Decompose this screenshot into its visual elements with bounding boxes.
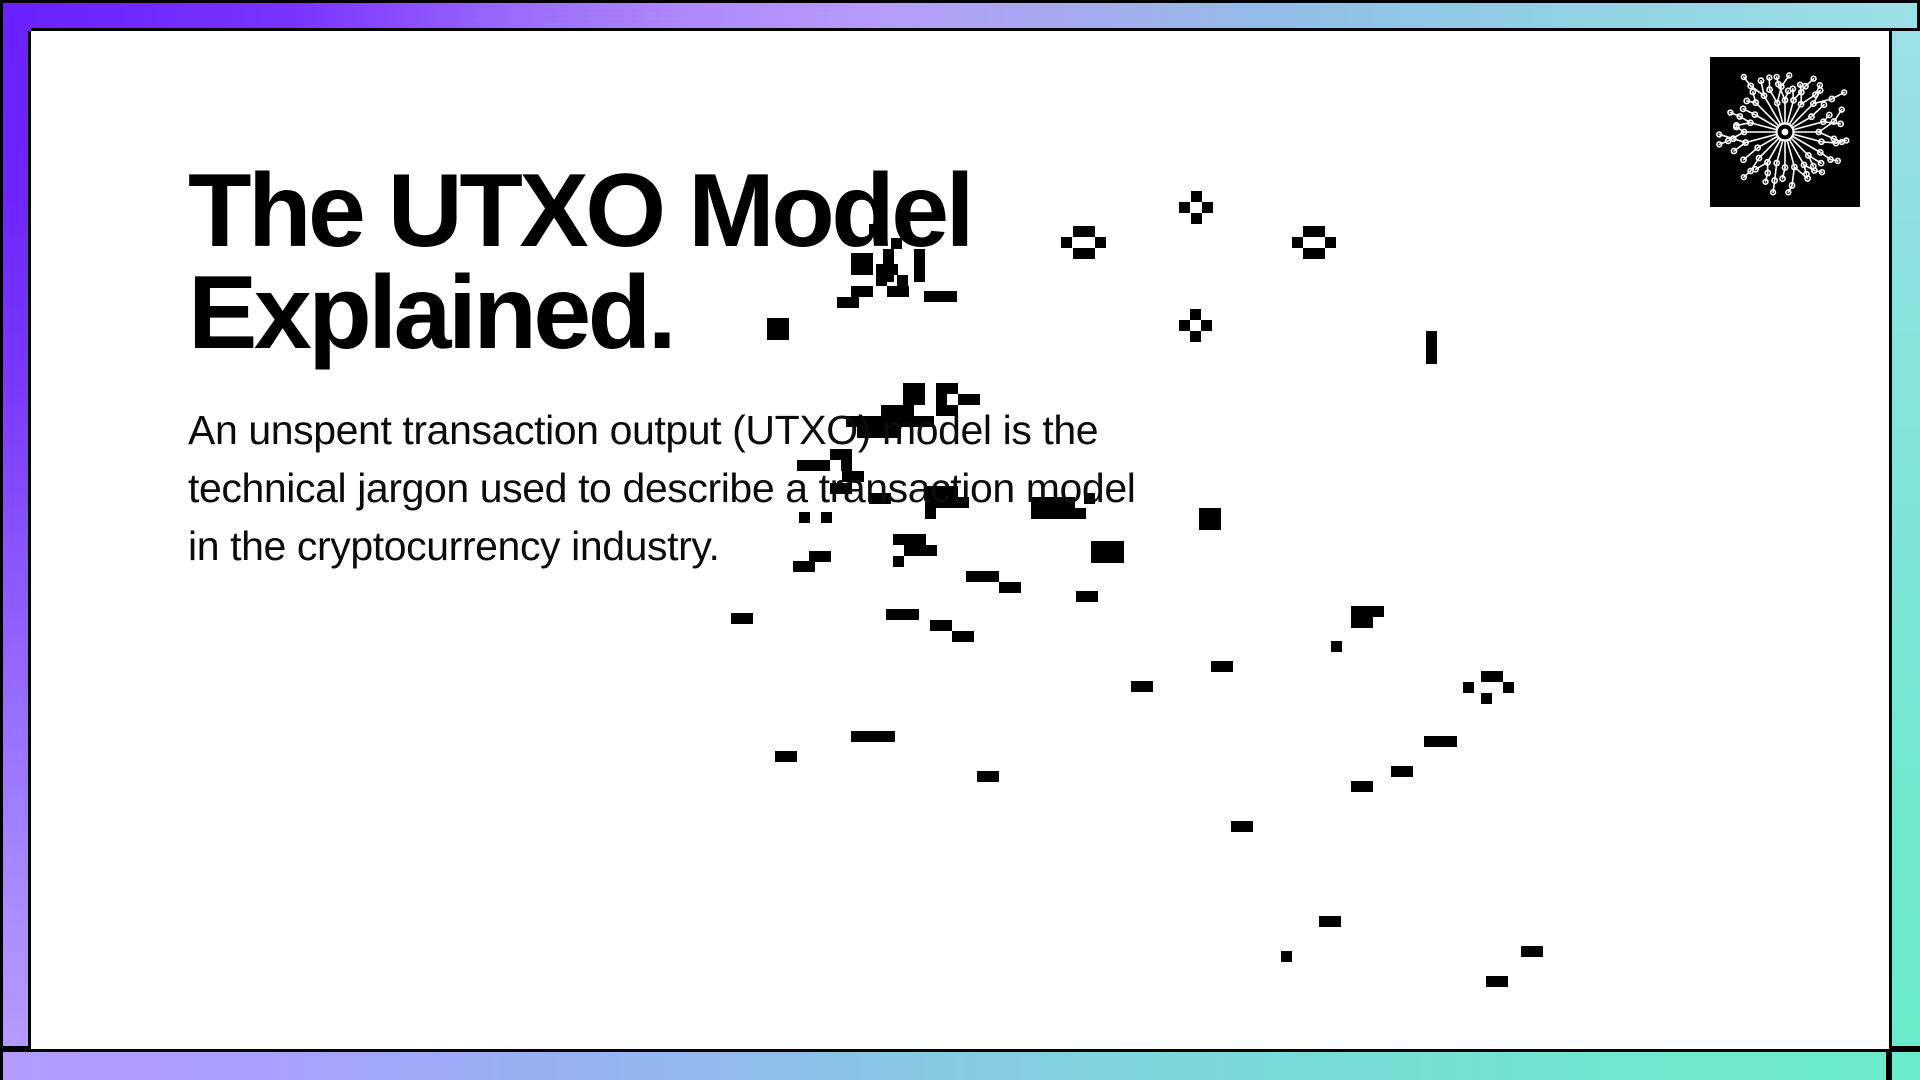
pattern-dot [1402, 766, 1413, 777]
pattern-dot [1281, 951, 1292, 962]
pattern-dot [1076, 591, 1087, 602]
page-title: The UTXO Model Explained. [188, 161, 1408, 365]
pattern-dot [963, 631, 974, 642]
frame-border-right [1889, 31, 1920, 1049]
body-paragraph: An unspent transaction output (UTXO) mod… [188, 401, 1208, 576]
pattern-dot [1503, 682, 1514, 693]
pattern-dot [1331, 641, 1342, 652]
pattern-dot [884, 731, 895, 742]
pattern-dot [775, 751, 786, 762]
pattern-dot [1010, 582, 1021, 593]
pattern-dot [1351, 606, 1362, 617]
pattern-dot [908, 609, 919, 620]
pattern-dot [1426, 342, 1437, 353]
pattern-dot [1142, 681, 1153, 692]
pattern-dot [1242, 821, 1253, 832]
pattern-dot [1492, 671, 1503, 682]
pattern-dot [1391, 766, 1402, 777]
frame-border-top [31, 0, 1920, 31]
pattern-dot [897, 609, 908, 620]
pattern-dot [1486, 976, 1497, 987]
frame-border-left [0, 31, 31, 1049]
pattern-dot [1497, 976, 1508, 987]
frame-corner-top-left [0, 0, 34, 34]
pattern-dot [1330, 916, 1341, 927]
pattern-dot [1521, 946, 1532, 957]
slide-root: The UTXO Model Explained. An unspent tra… [0, 0, 1920, 1080]
pattern-dot [1087, 591, 1098, 602]
pattern-dot [988, 771, 999, 782]
pattern-dot [862, 731, 873, 742]
pattern-dot [1373, 606, 1384, 617]
frame-border-bottom [0, 1049, 1889, 1080]
pattern-dot [1435, 736, 1446, 747]
pattern-dot [731, 613, 742, 624]
pattern-dot [930, 620, 941, 631]
pattern-dot [1463, 682, 1474, 693]
pattern-dot [952, 631, 963, 642]
radial-network-logo [1710, 57, 1860, 207]
pattern-dot [742, 613, 753, 624]
pattern-dot [851, 731, 862, 742]
pattern-dot [873, 731, 884, 742]
pattern-dot [1426, 331, 1437, 342]
text-block: The UTXO Model Explained. An unspent tra… [188, 161, 1408, 575]
pattern-dot [1362, 781, 1373, 792]
pattern-dot [977, 771, 988, 782]
pattern-dot [1351, 781, 1362, 792]
pattern-dot [1481, 693, 1492, 704]
pattern-dot [886, 609, 897, 620]
pattern-dot [1211, 661, 1222, 672]
pattern-dot [999, 582, 1010, 593]
pattern-dot [1131, 681, 1142, 692]
pattern-dot [1351, 617, 1362, 628]
pattern-dot [1319, 916, 1330, 927]
frame-corner-bottom-right [1889, 1049, 1920, 1080]
pattern-dot [1222, 661, 1233, 672]
pattern-dot [941, 620, 952, 631]
pattern-dot [1426, 353, 1437, 364]
pattern-dot [786, 751, 797, 762]
pattern-dot [1446, 736, 1457, 747]
pattern-dot [1424, 736, 1435, 747]
pattern-dot [1362, 606, 1373, 617]
pattern-dot [1532, 946, 1543, 957]
pattern-dot [1231, 821, 1242, 832]
pattern-dot [1362, 617, 1373, 628]
pattern-dot [1481, 671, 1492, 682]
slide-canvas: The UTXO Model Explained. An unspent tra… [31, 31, 1889, 1049]
radial-network-logo-icon [1710, 57, 1860, 207]
